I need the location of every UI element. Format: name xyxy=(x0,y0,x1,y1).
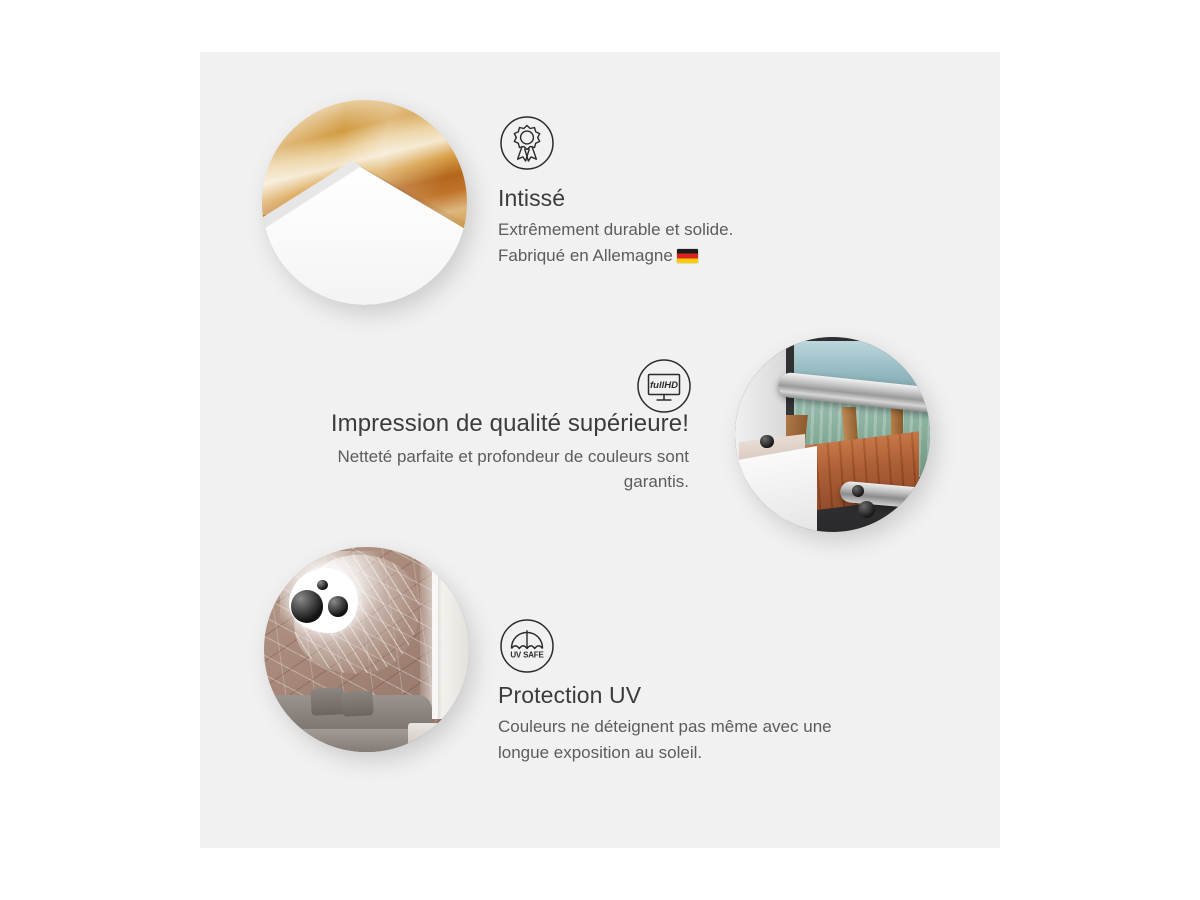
protection-uv-desc-line-1: Couleurs ne déteignent pas même avec une xyxy=(498,717,832,736)
impression-desc-line-1: Netteté parfaite et profondeur de couleu… xyxy=(337,447,689,466)
room-cushion-b xyxy=(341,690,373,716)
germany-flag-icon xyxy=(677,249,698,263)
protection-uv-title: Protection UV xyxy=(498,682,928,708)
room-cushion-a xyxy=(310,688,344,716)
room-dark-sphere-b xyxy=(328,596,349,617)
full-hd-monitor-icon: fullHD xyxy=(636,358,692,414)
award-ribbon-icon xyxy=(499,115,555,171)
impression-title: Impression de qualité supérieure! xyxy=(289,410,689,438)
full-hd-label: fullHD xyxy=(650,380,678,391)
intisse-text-block: Intissé Extrêmement durable et solide. F… xyxy=(498,185,918,268)
room-dark-sphere-a xyxy=(291,590,324,623)
uv-safe-umbrella-icon: UV SAFE xyxy=(499,618,555,674)
uv-safe-label: UV SAFE xyxy=(510,651,544,660)
wallpaper-roll-artwork xyxy=(262,100,467,305)
printing-press-photo xyxy=(735,337,930,532)
room-window xyxy=(420,547,469,719)
feature-panel: Intissé Extrêmement durable et solide. F… xyxy=(200,52,1000,848)
room-side-table xyxy=(408,723,449,748)
printing-press-artwork xyxy=(735,337,930,532)
press-white-paper-edge xyxy=(735,446,817,532)
wallpaper-roll-peeled-corner-photo xyxy=(262,100,467,305)
protection-uv-description: Couleurs ne déteignent pas même avec une… xyxy=(498,714,928,764)
protection-uv-desc-line-2: longue exposition au soleil. xyxy=(498,743,702,762)
room-window-frame xyxy=(432,547,438,719)
intisse-description: Extrêmement durable et solide. Fabriqué … xyxy=(498,217,918,267)
living-room-artwork xyxy=(264,547,469,752)
press-knob-a xyxy=(760,435,774,449)
press-knob-b xyxy=(852,485,864,497)
impression-description: Netteté parfaite et profondeur de couleu… xyxy=(289,444,689,494)
living-room-geometric-wallpaper-photo xyxy=(264,547,469,752)
protection-uv-text-block: Protection UV Couleurs ne déteignent pas… xyxy=(498,682,928,765)
impression-desc-line-2: garantis. xyxy=(624,472,689,491)
intisse-desc-line-2: Fabriqué en Allemagne xyxy=(498,246,673,265)
impression-text-block: Impression de qualité supérieure! Nettet… xyxy=(289,410,689,494)
room-dark-sphere-c xyxy=(317,580,327,590)
intisse-desc-line-1: Extrêmement durable et solide. xyxy=(498,220,733,239)
intisse-title: Intissé xyxy=(498,185,918,211)
